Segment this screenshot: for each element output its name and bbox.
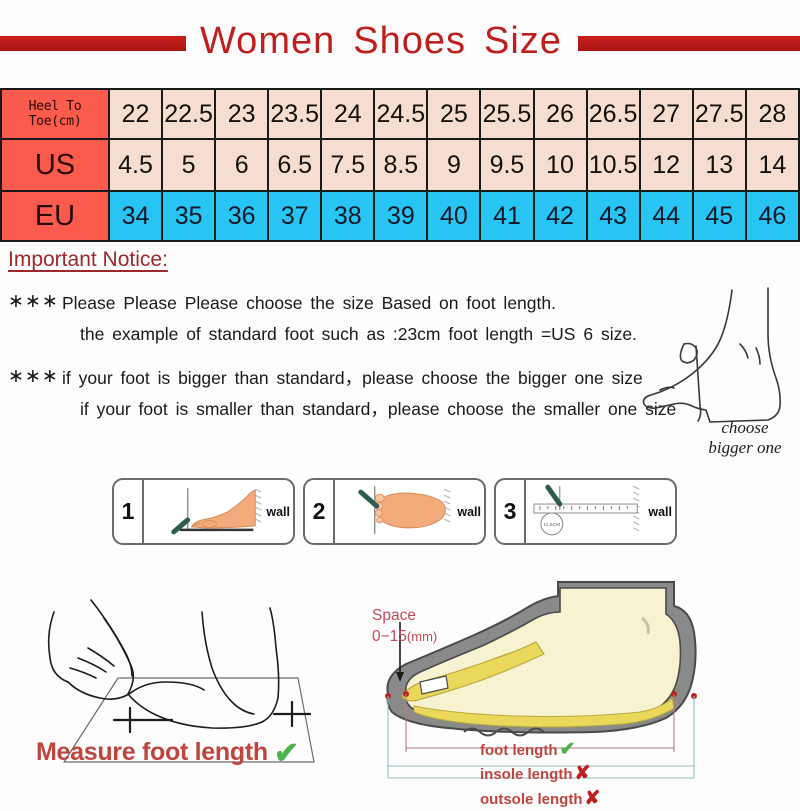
notice-item-2-line-2: if your foot is smaller than standard，pl… bbox=[62, 394, 676, 425]
row-label-us: US bbox=[1, 139, 109, 191]
notice-item-2: ∗∗∗ if your foot is bigger than standard… bbox=[8, 363, 708, 424]
svg-text:11.5CM: 11.5CM bbox=[543, 522, 560, 528]
cell-us-10: 12 bbox=[640, 139, 693, 191]
cell-us-12: 14 bbox=[746, 139, 799, 191]
dimension-foot-length: foot length✔ bbox=[480, 738, 600, 762]
notice-stars-1: ∗∗∗ bbox=[8, 288, 62, 313]
step-box-1: 1 wall bbox=[112, 478, 295, 545]
title-word-1: Women bbox=[200, 20, 335, 62]
foot-caption-line-1: choose bbox=[690, 418, 800, 438]
wall-label-2: wall bbox=[457, 505, 481, 519]
cell-cm-2: 23 bbox=[215, 89, 268, 139]
notice-item-1: ∗∗∗ Please Please Please choose the size… bbox=[8, 288, 708, 349]
dimension-outsole-length-text: outsole length bbox=[480, 791, 583, 808]
table-row-eu: EU 34 35 36 37 38 39 40 41 42 43 44 45 4… bbox=[1, 191, 799, 241]
title-word-3: Size bbox=[484, 20, 562, 62]
foot-caption-line-2: bigger one bbox=[690, 438, 800, 458]
cell-eu-9: 43 bbox=[587, 191, 640, 241]
wall-label-1: wall bbox=[266, 505, 290, 519]
notice-item-2-line-1: if your foot is bigger than standard，ple… bbox=[62, 363, 676, 394]
cell-eu-0: 34 bbox=[109, 191, 162, 241]
insole-length-cross-icon: ✘ bbox=[575, 763, 591, 784]
cell-cm-4: 24 bbox=[321, 89, 374, 139]
cell-us-0: 4.5 bbox=[109, 139, 162, 191]
step-number-2: 2 bbox=[305, 480, 335, 543]
page-title-bar: WomenShoesSize bbox=[0, 0, 800, 82]
cell-eu-7: 41 bbox=[480, 191, 533, 241]
space-label-unit: (mm) bbox=[407, 629, 437, 644]
cell-us-9: 10.5 bbox=[587, 139, 640, 191]
cell-cm-11: 27.5 bbox=[693, 89, 746, 139]
dimension-insole-length-text: insole length bbox=[480, 766, 573, 783]
step-box-2: 2 wall bbox=[303, 478, 486, 545]
cell-us-1: 5 bbox=[162, 139, 215, 191]
cell-us-7: 9.5 bbox=[480, 139, 533, 191]
title-word-2: Shoes bbox=[353, 20, 466, 62]
space-label-line-2: 0−15 bbox=[372, 628, 407, 645]
measurement-steps: 1 wall 2 bbox=[112, 478, 677, 545]
cell-us-5: 8.5 bbox=[374, 139, 427, 191]
row-label-eu: EU bbox=[1, 191, 109, 241]
notice-item-1-line-2: the example of standard foot such as :23… bbox=[62, 319, 637, 350]
cell-cm-10: 27 bbox=[640, 89, 693, 139]
cell-us-11: 13 bbox=[693, 139, 746, 191]
cell-eu-2: 36 bbox=[215, 191, 268, 241]
cell-cm-7: 25.5 bbox=[480, 89, 533, 139]
notice-item-1-line-1: Please Please Please choose the size Bas… bbox=[62, 288, 637, 319]
dimension-insole-length: insole length✘ bbox=[480, 762, 600, 786]
dimension-outsole-length: outsole length✘ bbox=[480, 787, 600, 811]
row-label-cm: Heel To Toe(cm) bbox=[1, 89, 109, 139]
measure-foot-length-text: Measure foot length bbox=[36, 738, 268, 766]
table-row-cm: Heel To Toe(cm) 22 22.5 23 23.5 24 24.5 … bbox=[1, 89, 799, 139]
foot-length-check-icon: ✔ bbox=[559, 739, 575, 760]
cell-us-2: 6 bbox=[215, 139, 268, 191]
cell-eu-10: 44 bbox=[640, 191, 693, 241]
cell-cm-0: 22 bbox=[109, 89, 162, 139]
cell-us-3: 6.5 bbox=[268, 139, 321, 191]
cell-eu-6: 40 bbox=[427, 191, 480, 241]
cell-cm-1: 22.5 bbox=[162, 89, 215, 139]
cell-eu-8: 42 bbox=[534, 191, 587, 241]
cell-us-6: 9 bbox=[427, 139, 480, 191]
cell-eu-5: 39 bbox=[374, 191, 427, 241]
dimension-foot-length-text: foot length bbox=[480, 742, 557, 759]
cell-cm-12: 28 bbox=[746, 89, 799, 139]
cell-cm-8: 26 bbox=[534, 89, 587, 139]
title-rule-right bbox=[578, 36, 800, 51]
cell-cm-3: 23.5 bbox=[268, 89, 321, 139]
step-box-3: 3 bbox=[494, 478, 677, 545]
cell-eu-12: 46 bbox=[746, 191, 799, 241]
step-art-2: wall bbox=[335, 480, 484, 543]
notice-heading: Important Notice: bbox=[8, 248, 708, 272]
measure-check-icon: ✔ bbox=[274, 737, 299, 770]
foot-profile-caption: choose bigger one bbox=[690, 418, 800, 457]
outsole-length-cross-icon: ✘ bbox=[585, 788, 601, 809]
step-art-3: 11.5CM wall bbox=[526, 480, 675, 543]
cell-us-8: 10 bbox=[534, 139, 587, 191]
size-conversion-table: Heel To Toe(cm) 22 22.5 23 23.5 24 24.5 … bbox=[0, 88, 800, 242]
measure-foot-length-label: Measure foot length✔ bbox=[36, 736, 299, 771]
cell-cm-5: 24.5 bbox=[374, 89, 427, 139]
wall-label-3: wall bbox=[648, 505, 672, 519]
step-number-3: 3 bbox=[496, 480, 526, 543]
title-rule-left bbox=[0, 36, 186, 51]
step-number-1: 1 bbox=[114, 480, 144, 543]
space-annotation: Space 0−15(mm) bbox=[372, 606, 437, 648]
step-art-1: wall bbox=[144, 480, 293, 543]
table-row-us: US 4.5 5 6 6.5 7.5 8.5 9 9.5 10 10.5 12 … bbox=[1, 139, 799, 191]
notice-stars-2: ∗∗∗ bbox=[8, 363, 62, 388]
important-notice-block: Important Notice: ∗∗∗ Please Please Plea… bbox=[8, 248, 708, 439]
cell-eu-1: 35 bbox=[162, 191, 215, 241]
cell-us-4: 7.5 bbox=[321, 139, 374, 191]
cell-cm-6: 25 bbox=[427, 89, 480, 139]
page-title: WomenShoesSize bbox=[186, 20, 578, 63]
cell-eu-11: 45 bbox=[693, 191, 746, 241]
cell-eu-3: 37 bbox=[268, 191, 321, 241]
cell-cm-9: 26.5 bbox=[587, 89, 640, 139]
cell-eu-4: 38 bbox=[321, 191, 374, 241]
space-label-line-1: Space bbox=[372, 606, 437, 627]
